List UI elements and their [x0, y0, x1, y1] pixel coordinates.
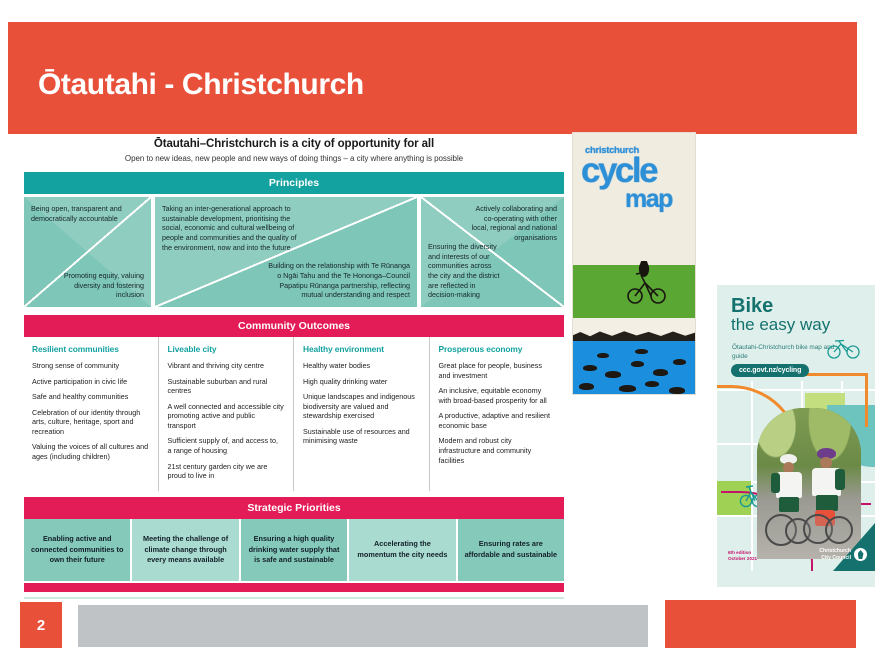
- community-outcomes-section: Community Outcomes Resilient communities…: [24, 315, 564, 491]
- footer-accent-block: [665, 600, 856, 648]
- outcome-column-title: Prosperous economy: [439, 344, 556, 354]
- bike-the-easy-way-brochure-image: Christchurch City Council 6th edition Oc…: [717, 285, 875, 587]
- outcome-item: 21st century garden city we are proud to…: [168, 462, 285, 481]
- duck-icon: [579, 383, 594, 390]
- duck-icon: [635, 349, 648, 354]
- principle-cell-1: Being open, transparent and democratical…: [24, 197, 151, 307]
- strategic-priorities-section: Strategic Priorities Enabling active and…: [24, 497, 564, 592]
- brochure-title-line-2: the easy way: [731, 316, 830, 334]
- principle-cell-1-bottom-text: Promoting equity, valuing diversity and …: [45, 271, 144, 300]
- logo-text: Christchurch City Council: [819, 548, 851, 560]
- bicycle-wheel: [825, 516, 853, 544]
- footer-placeholder-bar: [78, 605, 648, 647]
- principle-cell-2-bottom-text: Building on the relationship with Te Rūn…: [263, 261, 410, 300]
- cover-water: [573, 341, 695, 394]
- outcome-item: High quality drinking water: [303, 377, 420, 387]
- cyclist-right: [807, 448, 851, 556]
- outcome-item: Great place for people, business and inv…: [439, 361, 556, 380]
- christchurch-city-council-logo: Christchurch City Council: [805, 548, 867, 561]
- outcome-column-title: Healthy environment: [303, 344, 420, 354]
- shorts: [816, 495, 838, 511]
- duck-icon: [605, 371, 621, 378]
- backpack: [835, 469, 845, 490]
- strategic-framework-infographic: Ōtautahi–Christchurch is a city of oppor…: [24, 134, 564, 586]
- community-outcomes-band-label: Community Outcomes: [24, 315, 564, 337]
- outcome-item: Vibrant and thriving city centre: [168, 361, 285, 371]
- principles-band-label: Principles: [24, 172, 564, 194]
- outcome-column-liveable-city: Liveable city Vibrant and thriving city …: [158, 337, 294, 491]
- brochure-edition-text: 6th edition October 2021: [728, 550, 757, 563]
- principles-row: Being open, transparent and democratical…: [24, 197, 564, 307]
- brochure-cyclists-photo: [757, 408, 861, 559]
- community-outcomes-row: Resilient communities Strong sense of co…: [24, 337, 564, 491]
- strategic-priorities-band-label: Strategic Priorities: [24, 497, 564, 519]
- christchurch-cycle-map-cover-image: christchurch cycle map: [572, 132, 696, 395]
- backpack: [771, 473, 780, 493]
- outcome-column-resilient-communities: Resilient communities Strong sense of co…: [24, 337, 158, 491]
- brochure-title-line-1: Bike: [731, 296, 773, 316]
- infographic-heading: Ōtautahi–Christchurch is a city of oppor…: [24, 138, 564, 150]
- brochure-orange-line-v: [865, 373, 868, 427]
- principle-cell-3: Actively collaborating and co-operating …: [421, 197, 564, 307]
- council-crest-icon: [854, 548, 867, 561]
- brochure-bottom-band: [717, 571, 875, 587]
- cover-word-map: map: [625, 187, 672, 212]
- outcome-item: Valuing the voices of all cultures and a…: [32, 442, 149, 461]
- outcome-item: Unique landscapes and indigenous biodive…: [303, 392, 420, 421]
- outcome-item: Sustainable use of resources and minimis…: [303, 427, 420, 446]
- cyclist-silhouette-icon: [625, 261, 669, 305]
- priority-cell-5: Ensuring rates are affordable and sustai…: [458, 519, 564, 581]
- strategic-priorities-row: Enabling active and connected communitie…: [24, 519, 564, 581]
- outcome-item: Healthy water bodies: [303, 361, 420, 371]
- grid-line: [801, 381, 803, 411]
- brochure-orange-line-h: [803, 373, 868, 376]
- page-title: Ōtautahi - Christchurch: [38, 68, 364, 102]
- priority-cell-3: Ensuring a high quality drinking water s…: [241, 519, 347, 581]
- outcome-item: Celebration of our identity through arts…: [32, 408, 149, 437]
- outcome-item: Sustainable suburban and rural centres: [168, 377, 285, 396]
- outcome-column-healthy-environment: Healthy environment Healthy water bodies…: [293, 337, 429, 491]
- principle-cell-2-top-text: Taking an inter-generational approach to…: [162, 204, 303, 252]
- principles-section: Principles Being open, transparent and d…: [24, 172, 564, 307]
- priority-cell-4: Accelerating the momentum the city needs: [349, 519, 455, 581]
- brochure-url-pill[interactable]: ccc.govt.nz/cycling: [731, 364, 809, 377]
- outcome-item: A productive, adaptive and resilient eco…: [439, 411, 556, 430]
- duck-icon: [619, 385, 636, 392]
- duck-icon: [653, 369, 668, 376]
- duck-icon: [597, 353, 609, 358]
- duck-icon: [631, 361, 644, 367]
- cyclist-left: [771, 454, 811, 554]
- infographic-subheading: Open to new ideas, new people and new wa…: [24, 154, 564, 163]
- logo-line-1: Christchurch: [819, 548, 851, 554]
- principle-cell-1-top-text: Being open, transparent and democratical…: [31, 204, 122, 223]
- duck-icon: [645, 381, 659, 387]
- outcome-item: Active participation in civic life: [32, 377, 149, 387]
- cover-bank-band: [573, 318, 695, 334]
- infographic-bottom-rule: [24, 597, 564, 599]
- outcome-column-title: Resilient communities: [32, 344, 149, 354]
- outcome-item: Strong sense of community: [32, 361, 149, 371]
- bicycle-icon: [827, 339, 861, 359]
- outcome-item: Safe and healthy communities: [32, 392, 149, 402]
- priority-cell-1: Enabling active and connected communitie…: [24, 519, 130, 581]
- principle-cell-3-top-text: Actively collaborating and co-operating …: [465, 204, 557, 243]
- outcome-column-title: Liveable city: [168, 344, 285, 354]
- brochure-subtitle: Ōtautahi-Christchurch bike map and guide: [732, 343, 842, 361]
- outcome-item: A well connected and accessible city pro…: [168, 402, 285, 431]
- shorts: [779, 497, 799, 512]
- duck-icon: [583, 365, 597, 371]
- slide-page-number: 2: [20, 602, 62, 648]
- priority-cell-2: Meeting the challenge of climate change …: [132, 519, 238, 581]
- duck-icon: [673, 359, 686, 365]
- duck-icon: [669, 387, 685, 394]
- outcome-item: Sufficient supply of, and access to, a r…: [168, 436, 285, 455]
- outcome-item: An inclusive, equitable economy with bro…: [439, 386, 556, 405]
- principle-cell-3-bottom-text: Ensuring the diversity and interests of …: [428, 242, 502, 300]
- outcome-column-prosperous-economy: Prosperous economy Great place for peopl…: [429, 337, 565, 491]
- logo-line-2: City Council: [819, 555, 851, 561]
- outcome-item: Modern and robust city infrastructure an…: [439, 436, 556, 465]
- cover-word-cycle: cycle: [581, 153, 656, 188]
- principle-cell-2: Taking an inter-generational approach to…: [155, 197, 417, 307]
- strategic-priorities-footer-bar: [24, 583, 564, 592]
